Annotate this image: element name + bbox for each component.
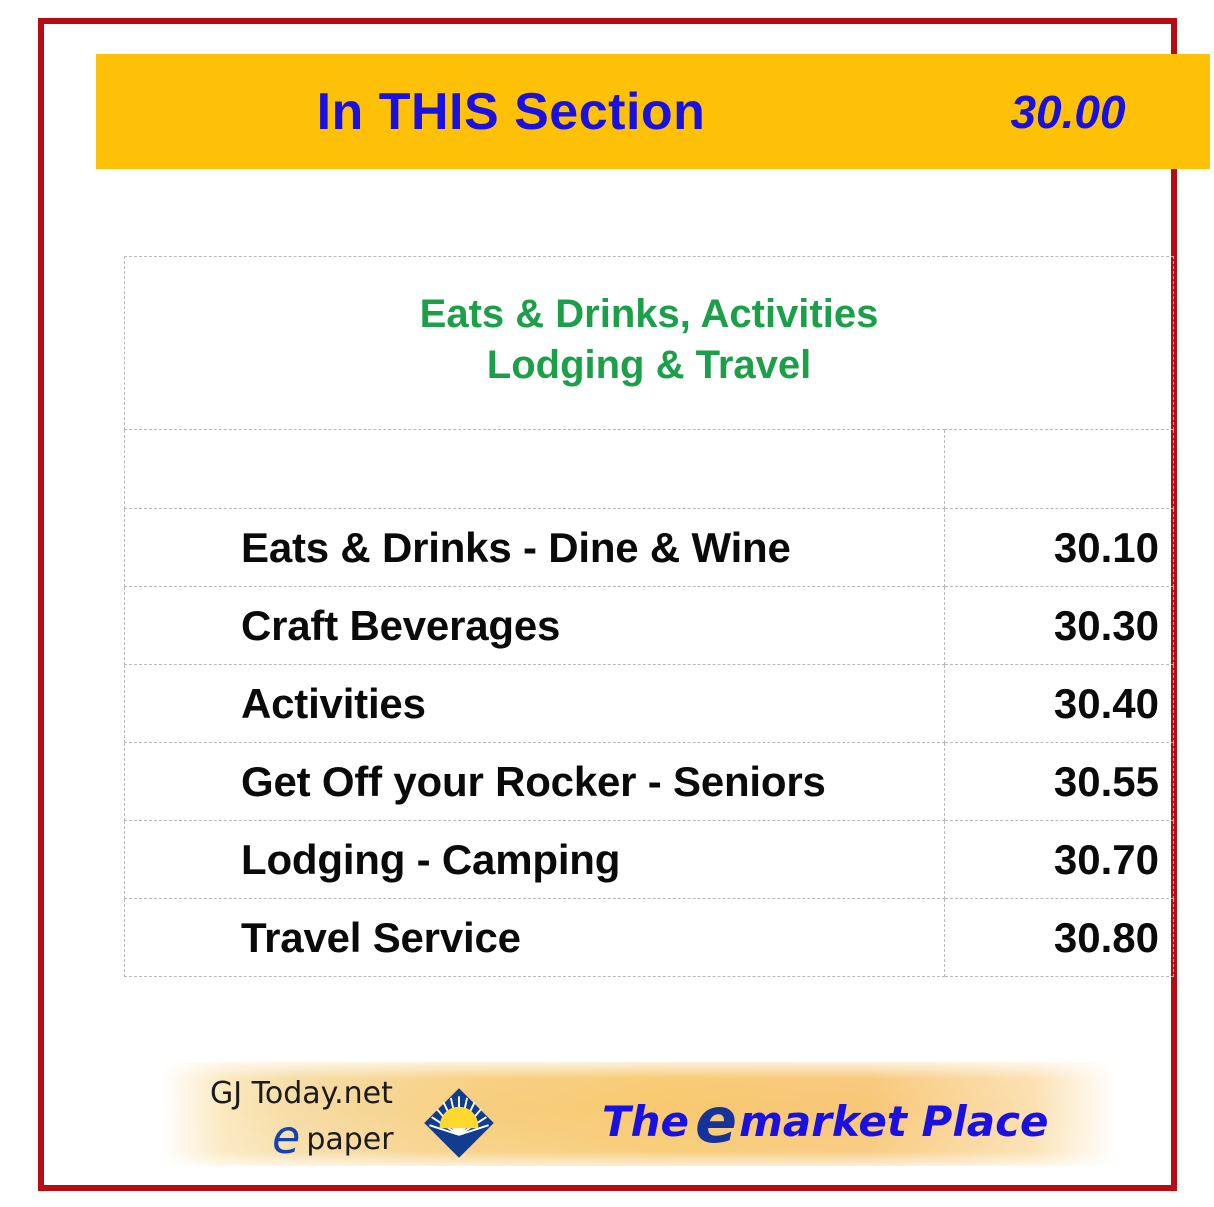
section-heading-cell: Eats & Drinks, Activities Lodging & Trav… — [125, 257, 1174, 430]
spacer-cell-left — [125, 430, 945, 509]
listing-code[interactable]: 30.10 — [945, 509, 1174, 587]
listing-code[interactable]: 30.80 — [945, 899, 1174, 977]
table-row[interactable]: Activities 30.40 — [125, 665, 1174, 743]
listing-code[interactable]: 30.70 — [945, 821, 1174, 899]
emarket-e-glyph: e — [695, 1084, 737, 1157]
listing-code[interactable]: 30.55 — [945, 743, 1174, 821]
epaper-e-glyph: e — [272, 1110, 300, 1164]
section-heading-row: Eats & Drinks, Activities Lodging & Trav… — [125, 257, 1174, 430]
spacer-cell-right — [945, 430, 1174, 509]
footer-banner: GJ Today.net epaper — [132, 1062, 1156, 1166]
gj-today-logo[interactable]: GJ Today.net epaper — [210, 1076, 510, 1160]
table-row[interactable]: Craft Beverages 30.30 — [125, 587, 1174, 665]
section-header-bar: In THIS Section 30.00 — [96, 54, 1210, 169]
listing-code[interactable]: 30.40 — [945, 665, 1174, 743]
epaper-label: paper — [306, 1122, 393, 1157]
gj-today-wordmark: GJ Today.net — [210, 1076, 393, 1111]
listing-name[interactable]: Activities — [125, 665, 945, 743]
poster-page: In THIS Section 30.00 Eats & Drinks, Act… — [0, 0, 1214, 1207]
section-listing-table: Eats & Drinks, Activities Lodging & Trav… — [124, 256, 1174, 977]
section-heading-line-1: Eats & Drinks, Activities — [135, 289, 1163, 340]
table-row[interactable]: Lodging - Camping 30.70 — [125, 821, 1174, 899]
table-row[interactable]: Eats & Drinks - Dine & Wine 30.10 — [125, 509, 1174, 587]
page-title: In THIS Section — [96, 86, 926, 138]
spacer-row — [125, 430, 1174, 509]
section-heading-line-2: Lodging & Travel — [135, 340, 1163, 391]
listing-name[interactable]: Eats & Drinks - Dine & Wine — [125, 509, 945, 587]
listing-name[interactable]: Craft Beverages — [125, 587, 945, 665]
listing-name[interactable]: Lodging - Camping — [125, 821, 945, 899]
listing-name[interactable]: Travel Service — [125, 899, 945, 977]
emarketplace-wordmark[interactable]: Theemarket Place — [602, 1084, 1048, 1157]
table-row[interactable]: Travel Service 30.80 — [125, 899, 1174, 977]
emarket-the: The — [602, 1097, 689, 1146]
listing-name[interactable]: Get Off your Rocker - Seniors — [125, 743, 945, 821]
listing-code[interactable]: 30.30 — [945, 587, 1174, 665]
emarket-tail: market Place — [739, 1097, 1048, 1146]
sun-diamond-icon — [422, 1086, 496, 1160]
red-framed-card: In THIS Section 30.00 Eats & Drinks, Act… — [38, 18, 1177, 1191]
table-row[interactable]: Get Off your Rocker - Seniors 30.55 — [125, 743, 1174, 821]
section-code: 30.00 — [926, 89, 1210, 135]
epaper-wordmark: epaper — [272, 1110, 394, 1164]
